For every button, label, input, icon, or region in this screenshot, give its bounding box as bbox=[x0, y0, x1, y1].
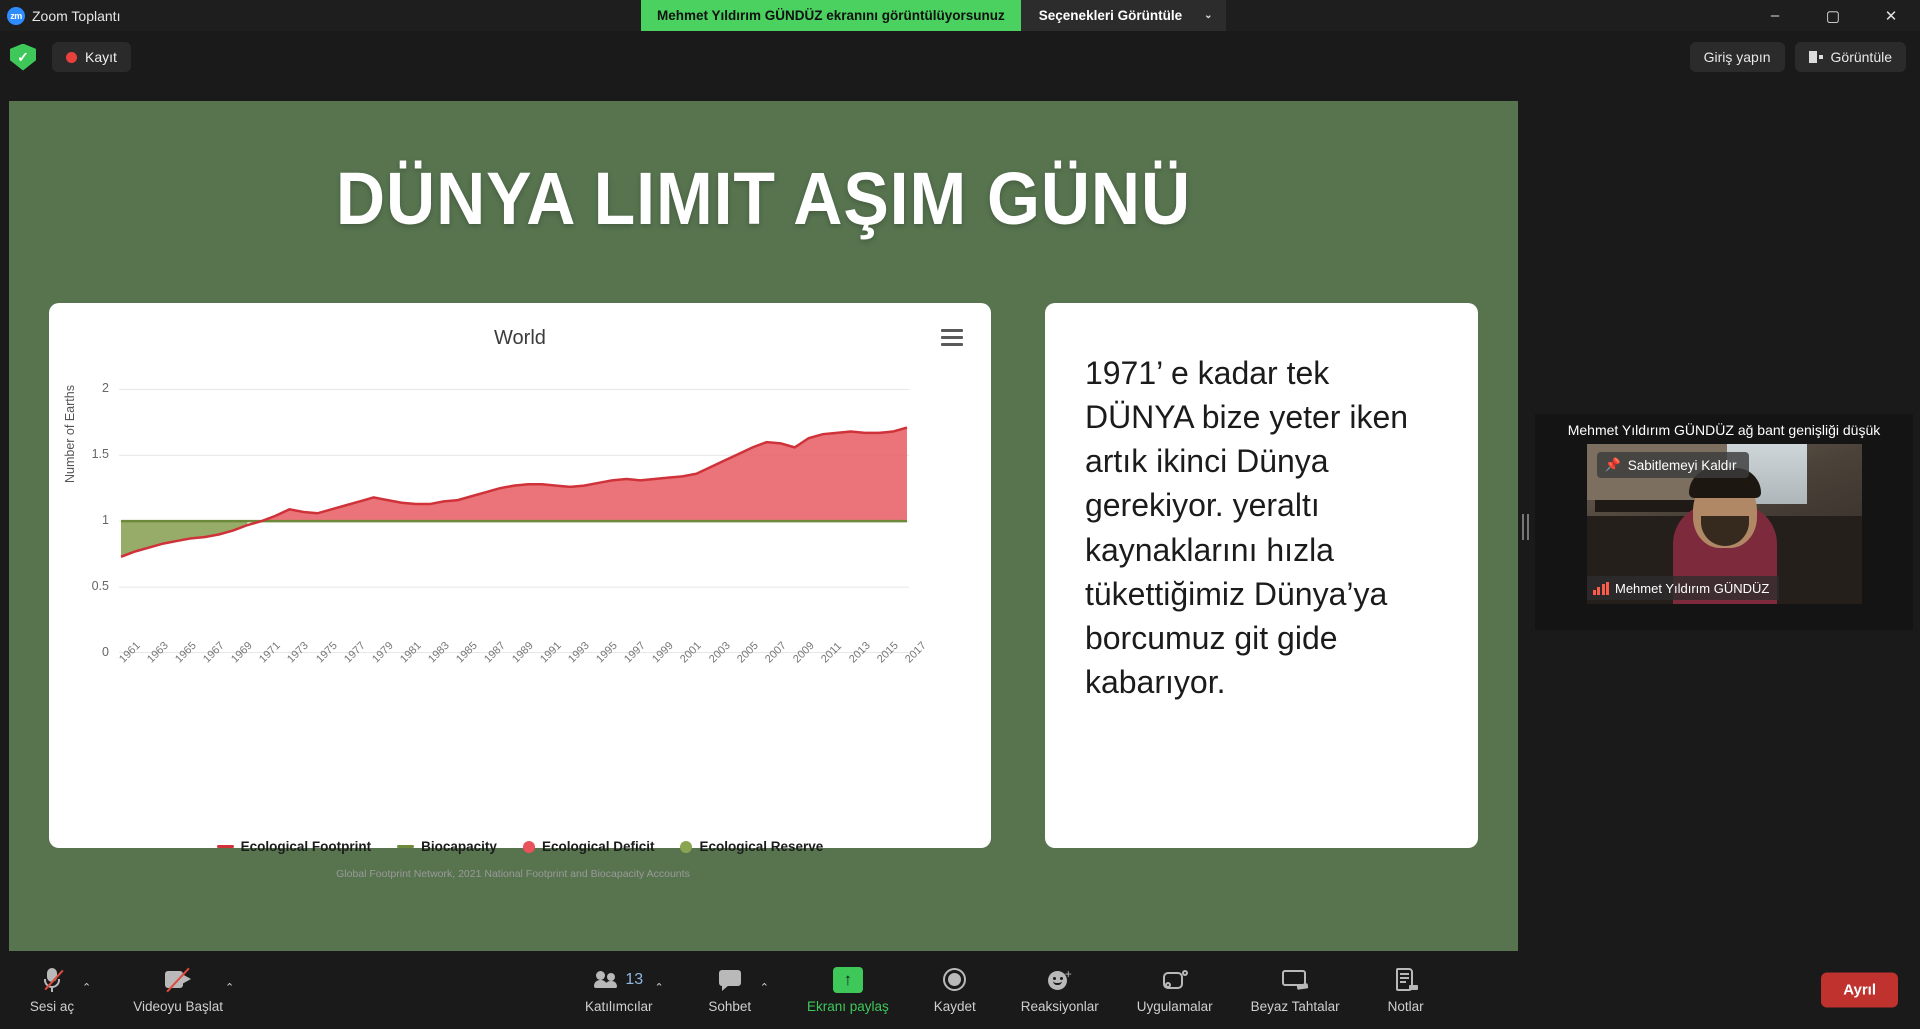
participant-name-badge: Mehmet Yıldırım GÜNDÜZ bbox=[1587, 576, 1780, 600]
toolbar-item-notes[interactable]: Notlar bbox=[1378, 967, 1434, 1014]
chat-control-group: Sohbet ⌃ bbox=[702, 967, 769, 1014]
toolbar-item-record[interactable]: Kaydet bbox=[927, 967, 983, 1014]
note-text: 1971’ e kadar tek DÜNYA bize yeter iken … bbox=[1085, 351, 1438, 704]
video-control-group: Videoyu Başlat ⌃ bbox=[133, 967, 234, 1014]
chart-title: World bbox=[71, 319, 969, 350]
camera-off-icon bbox=[165, 967, 191, 993]
audio-control-group: Sesi aç ⌃ bbox=[24, 967, 91, 1014]
title-bar: zm Zoom Toplantı Mehmet Yıldırım GÜNDÜZ … bbox=[0, 0, 1920, 31]
video-panel-drag-handle[interactable] bbox=[1520, 512, 1530, 542]
chart-legend-item[interactable]: Ecological Footprint bbox=[217, 839, 372, 854]
chart-legend-label: Ecological Deficit bbox=[542, 839, 655, 854]
chart-legend-item[interactable]: Biocapacity bbox=[397, 839, 497, 854]
layout-view-icon bbox=[1809, 51, 1823, 63]
participants-icon: 13 bbox=[594, 967, 643, 993]
close-button[interactable]: ✕ bbox=[1862, 0, 1920, 31]
share-status-text: Mehmet Yıldırım GÜNDÜZ ekranını görüntül… bbox=[641, 0, 1021, 31]
participants-count: 13 bbox=[625, 971, 643, 989]
legend-line-marker-icon bbox=[217, 845, 234, 848]
slide-content: World Number of Earths 00.511.52 1961196… bbox=[9, 241, 1518, 848]
view-options-button[interactable]: Seçenekleri Görüntüle ⌄ bbox=[1021, 0, 1227, 31]
toolbar-item-chat[interactable]: Sohbet bbox=[702, 967, 758, 1014]
chart-y-tick: 1 bbox=[79, 513, 109, 527]
hamburger-icon[interactable] bbox=[941, 329, 963, 350]
toolbar-label-whiteboards: Beyaz Tahtalar bbox=[1251, 999, 1340, 1014]
chart-y-axis-label: Number of Earths bbox=[63, 385, 77, 483]
toolbar-item-reactions[interactable]: + Reaksiyonlar bbox=[1021, 967, 1099, 1014]
chart-x-ticks: 1961196319651967196919711973197519771979… bbox=[119, 649, 909, 739]
chat-chevron-icon[interactable]: ⌃ bbox=[760, 981, 769, 994]
chat-icon bbox=[719, 967, 741, 993]
window-controls: – ▢ ✕ bbox=[1746, 0, 1920, 31]
bandwidth-warning-text: Mehmet Yıldırım GÜNDÜZ ağ bant genişliği… bbox=[1545, 422, 1903, 444]
participants-control-group: 13 Katılımcılar ⌃ bbox=[585, 967, 664, 1014]
participant-video-feed[interactable]: 📌 Sabitlemeyi Kaldır Mehmet Yıldırım GÜN… bbox=[1587, 444, 1862, 604]
meeting-info-bar: ✓ Kayıt Giriş yapın Görüntüle bbox=[0, 31, 1920, 83]
meeting-toolbar: Sesi aç ⌃ Videoyu Başlat ⌃ bbox=[0, 951, 1920, 1029]
unpin-label: Sabitlemeyi Kaldır bbox=[1628, 458, 1737, 473]
participant-name: Mehmet Yıldırım GÜNDÜZ bbox=[1615, 581, 1769, 596]
record-dot-icon bbox=[66, 52, 77, 63]
video-options-chevron-icon[interactable]: ⌃ bbox=[225, 981, 234, 994]
zoom-logo-icon: zm bbox=[7, 7, 25, 25]
toolbar-label-share-screen: Ekranı paylaş bbox=[807, 999, 889, 1014]
toolbar-label-mute: Sesi aç bbox=[30, 999, 74, 1014]
shared-screen-slide: DÜNYA LIMIT AŞIM GÜNÜ World Number of Ea… bbox=[9, 101, 1518, 951]
note-card: 1971’ e kadar tek DÜNYA bize yeter iken … bbox=[1045, 303, 1478, 848]
whiteboard-icon bbox=[1282, 967, 1308, 993]
audio-options-chevron-icon[interactable]: ⌃ bbox=[82, 981, 91, 994]
chevron-down-icon: ⌄ bbox=[1204, 10, 1212, 21]
participants-chevron-icon[interactable]: ⌃ bbox=[655, 981, 664, 994]
apps-icon bbox=[1163, 967, 1187, 993]
unpin-button[interactable]: 📌 Sabitlemeyi Kaldır bbox=[1597, 452, 1749, 478]
chart-legend-item[interactable]: Ecological Deficit bbox=[523, 839, 655, 854]
sign-in-label: Giriş yapın bbox=[1704, 49, 1771, 65]
chart-legend-item[interactable]: Ecological Reserve bbox=[680, 839, 823, 854]
chart-legend-label: Ecological Reserve bbox=[699, 839, 823, 854]
screen-share-banner: Mehmet Yıldırım GÜNDÜZ ekranını görüntül… bbox=[641, 0, 1226, 31]
toolbar-item-mute[interactable]: Sesi aç bbox=[24, 967, 80, 1014]
sign-in-button[interactable]: Giriş yapın bbox=[1690, 42, 1785, 72]
title-bar-left: zm Zoom Toplantı bbox=[0, 7, 640, 25]
toolbar-label-apps: Uygulamalar bbox=[1137, 999, 1213, 1014]
minimize-button[interactable]: – bbox=[1746, 0, 1804, 31]
maximize-button[interactable]: ▢ bbox=[1804, 0, 1862, 31]
reactions-icon: + bbox=[1048, 967, 1072, 993]
toolbar-label-reactions: Reaksiyonlar bbox=[1021, 999, 1099, 1014]
chart-header: World bbox=[71, 319, 969, 359]
toolbar-label-video: Videoyu Başlat bbox=[133, 999, 223, 1014]
toolbar-label-chat: Sohbet bbox=[708, 999, 751, 1014]
chart-legend-label: Biocapacity bbox=[421, 839, 497, 854]
chart-y-tick: 2 bbox=[79, 381, 109, 395]
signal-bars-icon bbox=[1593, 582, 1610, 595]
legend-dot-marker-icon bbox=[523, 841, 535, 853]
share-screen-icon: ↑ bbox=[833, 967, 863, 993]
encryption-shield-icon[interactable]: ✓ bbox=[10, 44, 36, 71]
toolbar-center-group: 13 Katılımcılar ⌃ Sohbet ⌃ ↑ Ekranı payl… bbox=[585, 967, 1434, 1014]
view-layout-button[interactable]: Görüntüle bbox=[1795, 42, 1906, 72]
meeting-info-bar-right: Giriş yapın Görüntüle bbox=[1690, 42, 1920, 72]
mic-muted-icon bbox=[43, 967, 61, 993]
toolbar-item-whiteboards[interactable]: Beyaz Tahtalar bbox=[1251, 967, 1340, 1014]
toolbar-item-share-screen[interactable]: ↑ Ekranı paylaş bbox=[807, 967, 889, 1014]
chart-y-tick: 1.5 bbox=[79, 447, 109, 461]
slide-title: DÜNYA LIMIT AŞIM GÜNÜ bbox=[69, 156, 1457, 241]
view-options-label: Seçenekleri Görüntüle bbox=[1039, 8, 1182, 23]
chart-y-tick: 0.5 bbox=[79, 579, 109, 593]
toolbar-item-apps[interactable]: Uygulamalar bbox=[1137, 967, 1213, 1014]
chart-legend: Ecological FootprintBiocapacityEcologica… bbox=[71, 839, 969, 854]
recording-indicator[interactable]: Kayıt bbox=[52, 42, 131, 72]
toolbar-item-participants[interactable]: 13 Katılımcılar bbox=[585, 967, 653, 1014]
toolbar-left-group: Sesi aç ⌃ Videoyu Başlat ⌃ bbox=[0, 967, 234, 1014]
notes-icon bbox=[1396, 967, 1416, 993]
participant-video-panel[interactable]: Mehmet Yıldırım GÜNDÜZ ağ bant genişliği… bbox=[1535, 414, 1913, 630]
legend-line-marker-icon bbox=[397, 845, 414, 848]
chart-svg bbox=[119, 363, 909, 653]
toolbar-label-record: Kaydet bbox=[934, 999, 976, 1014]
legend-dot-marker-icon bbox=[680, 841, 692, 853]
chart-legend-label: Ecological Footprint bbox=[241, 839, 372, 854]
chart-plot-area: Number of Earths 00.511.52 1961196319651… bbox=[71, 363, 969, 763]
view-layout-label: Görüntüle bbox=[1831, 49, 1892, 65]
record-icon bbox=[943, 967, 966, 993]
zoom-meeting-window: zm Zoom Toplantı Mehmet Yıldırım GÜNDÜZ … bbox=[0, 0, 1920, 1029]
chart-source-note: Global Footprint Network, 2021 National … bbox=[71, 868, 969, 880]
toolbar-label-participants: Katılımcılar bbox=[585, 999, 653, 1014]
recording-label: Kayıt bbox=[85, 49, 117, 65]
window-title: Zoom Toplantı bbox=[32, 8, 120, 24]
toolbar-label-notes: Notlar bbox=[1388, 999, 1424, 1014]
chart-card: World Number of Earths 00.511.52 1961196… bbox=[49, 303, 991, 848]
leave-meeting-button[interactable]: Ayrıl bbox=[1821, 973, 1898, 1008]
chart-y-tick: 0 bbox=[79, 645, 109, 659]
toolbar-item-video[interactable]: Videoyu Başlat bbox=[133, 967, 223, 1014]
pin-icon: 📌 bbox=[1605, 457, 1621, 473]
